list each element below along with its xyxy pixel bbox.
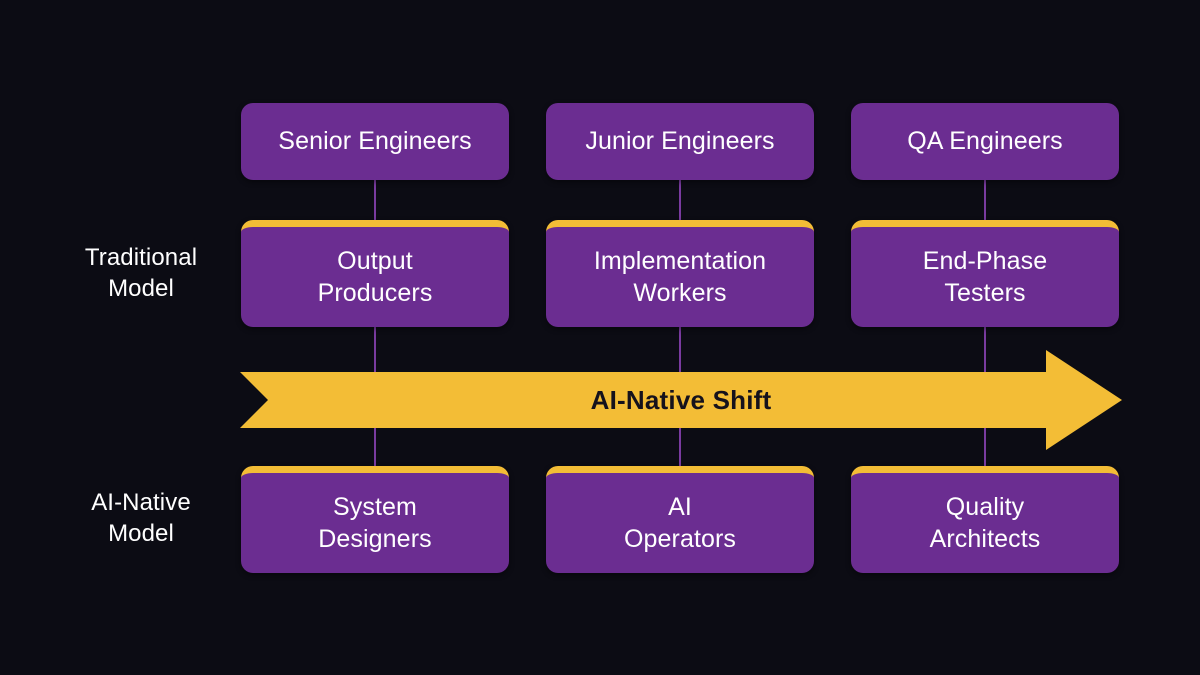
node-senior-engineers[interactable]: Senior Engineers	[241, 103, 509, 180]
connector-col2-top	[679, 178, 681, 224]
node-output-producers[interactable]: Output Producers	[241, 220, 509, 327]
node-system-designers[interactable]: System Designers	[241, 466, 509, 573]
node-junior-engineers[interactable]: Junior Engineers	[546, 103, 814, 180]
node-quality-architects[interactable]: Quality Architects	[851, 466, 1119, 573]
row-label-ainative: AI-Native Model	[41, 488, 241, 549]
node-end-phase-testers[interactable]: End-Phase Testers	[851, 220, 1119, 327]
node-ai-operators[interactable]: AI Operators	[546, 466, 814, 573]
diagram-canvas: Senior Engineers Junior Engineers QA Eng…	[0, 0, 1200, 675]
row-label-traditional: Traditional Model	[41, 243, 241, 304]
node-qa-engineers[interactable]: QA Engineers	[851, 103, 1119, 180]
connector-col1-top	[374, 178, 376, 224]
connector-col3-top	[984, 178, 986, 224]
ai-native-shift-label: AI-Native Shift	[240, 350, 1122, 450]
node-implementation-workers[interactable]: Implementation Workers	[546, 220, 814, 327]
